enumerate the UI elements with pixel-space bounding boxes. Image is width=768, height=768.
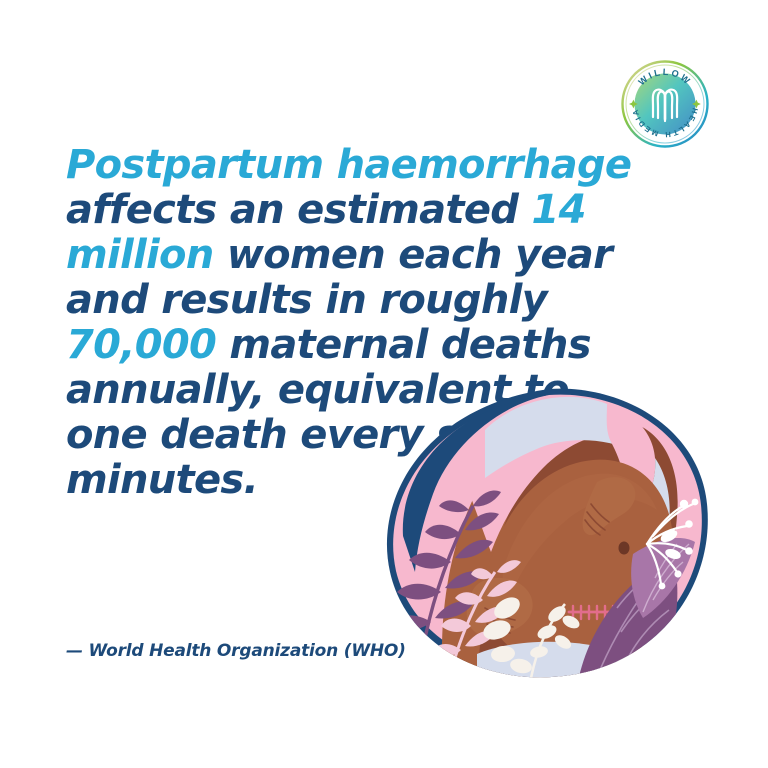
headline-segment-1: Postpartum haemorrhage — [66, 142, 631, 188]
headline-segment-2: affects an estimated — [66, 187, 531, 233]
poster-canvas: WILLOW HEALTH MEDIA Postpartum haemorrha… — [0, 0, 768, 768]
headline-segment-5: 70,000 — [66, 322, 229, 368]
pregnant-belly-illustration — [381, 386, 711, 681]
willow-health-media-logo: WILLOW HEALTH MEDIA — [620, 59, 710, 149]
attribution-source: — World Health Organization (WHO) — [66, 641, 406, 661]
navel — [619, 542, 630, 555]
